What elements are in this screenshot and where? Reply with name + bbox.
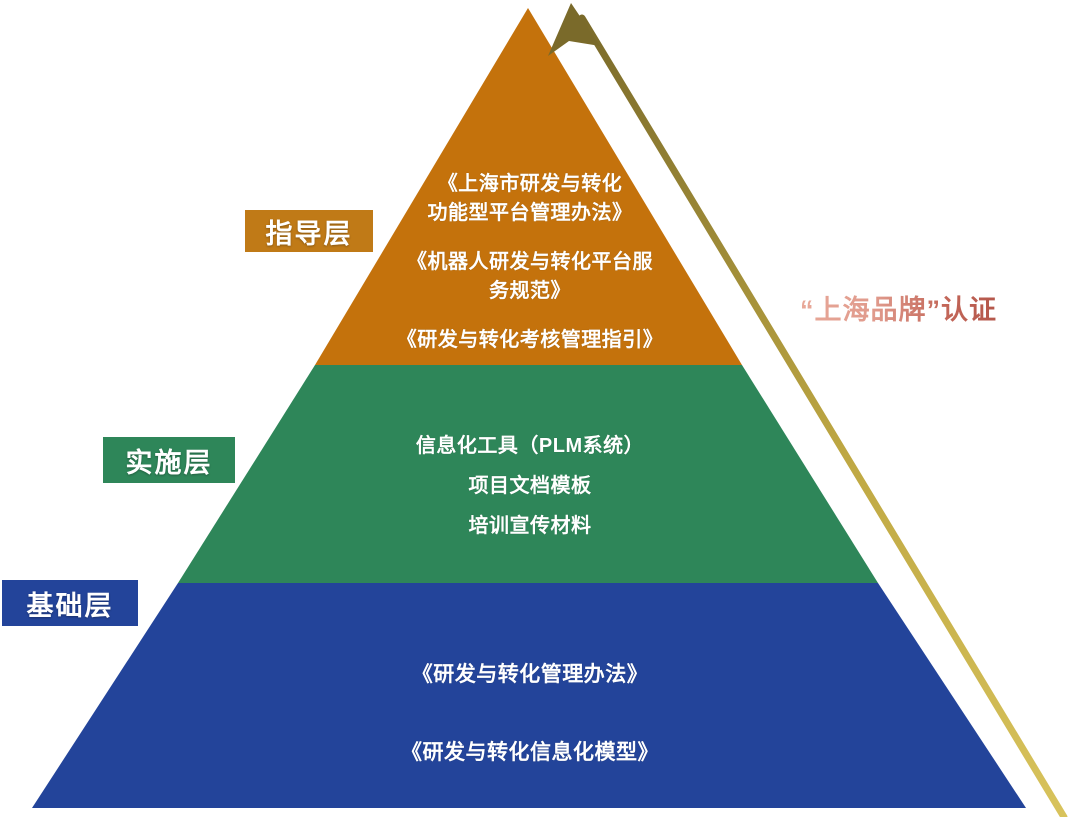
policy-line: 《机器人研发与转化平台服 (330, 248, 730, 277)
foundation-item: 《研发与转化管理办法》 (330, 658, 730, 692)
tier-implementation-text: 信息化工具（PLM系统） 项目文档模板 培训宣传材料 (330, 426, 730, 546)
layer-badge-foundation: 基础层 (2, 580, 138, 626)
layer-badge-foundation-label: 基础层 (27, 584, 114, 623)
tier-guidance-text: 《上海市研发与转化 功能型平台管理办法》 《机器人研发与转化平台服 务规范》 《… (330, 170, 730, 355)
policy-item-group: 《机器人研发与转化平台服 务规范》 (330, 248, 730, 306)
implementation-item: 项目文档模板 (330, 466, 730, 506)
policy-item-group: 《研发与转化考核管理指引》 (330, 326, 730, 355)
layer-badge-implementation-label: 实施层 (126, 441, 213, 480)
implementation-item: 信息化工具（PLM系统） (330, 426, 730, 466)
pyramid-diagram: 《上海市研发与转化 功能型平台管理办法》 《机器人研发与转化平台服 务规范》 《… (0, 0, 1080, 817)
layer-badge-implementation: 实施层 (103, 437, 235, 483)
tier-foundation-text: 《研发与转化管理办法》 《研发与转化信息化模型》 (330, 658, 730, 770)
policy-line: 功能型平台管理办法》 (330, 199, 730, 228)
policy-line: 务规范》 (330, 277, 730, 306)
policy-line: 《研发与转化考核管理指引》 (330, 326, 730, 355)
policy-line: 《上海市研发与转化 (330, 170, 730, 199)
implementation-item: 培训宣传材料 (330, 506, 730, 546)
policy-item-group: 《上海市研发与转化 功能型平台管理办法》 (330, 170, 730, 228)
layer-badge-guidance: 指导层 (245, 210, 373, 252)
spacer (330, 692, 730, 736)
foundation-item: 《研发与转化信息化模型》 (330, 736, 730, 770)
layer-badge-guidance-label: 指导层 (266, 212, 353, 251)
brand-certification-annotation: “上海品牌”认证 (800, 288, 997, 327)
